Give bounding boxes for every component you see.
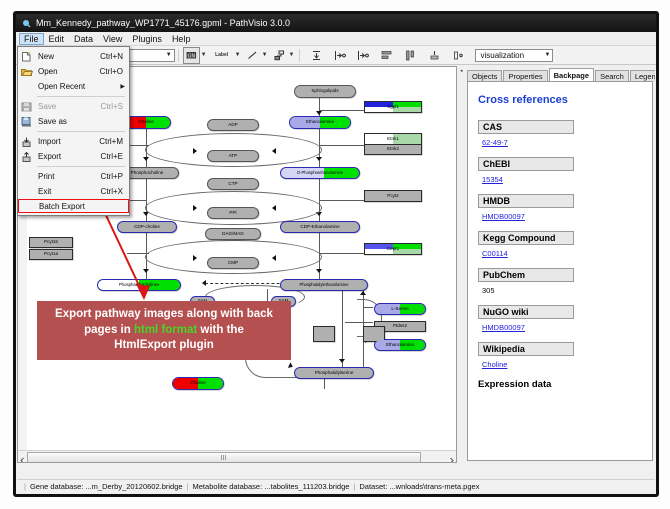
node-dag-mag[interactable]: DAG/MAG: [205, 228, 261, 240]
xref-value-wikipedia: Choline: [482, 360, 648, 369]
hscroll-thumb[interactable]: [27, 452, 421, 463]
backpage-content: Cross references CAS 62-49-7 ChEBI 15354…: [478, 88, 648, 460]
backpage-panel: Cross references CAS 62-49-7 ChEBI 15354…: [467, 81, 653, 461]
xref-value-chebi: 15354: [482, 175, 648, 184]
node-cept1[interactable]: Cept1: [364, 243, 422, 255]
node-etnk1[interactable]: Etnk1: [364, 133, 422, 144]
distribute-vertical-icon[interactable]: [378, 47, 395, 64]
xref-link-chebi[interactable]: 15354: [482, 175, 503, 184]
menu-item-exit[interactable]: Exit Ctrl+X: [18, 184, 129, 199]
tab-backpage[interactable]: Backpage: [549, 68, 594, 82]
group-icon[interactable]: [426, 47, 443, 64]
status-separator-0: |: [24, 482, 26, 491]
menu-item-save-label: Save: [38, 102, 101, 111]
callout-line-2: pages in html format with the: [55, 323, 273, 339]
node-phosphatidylcholines[interactable]: Phosphatidylcholines: [97, 279, 181, 291]
arrowhead-down-3: [316, 157, 322, 161]
menu-bar: File Edit Data View Plugins Help: [16, 32, 656, 46]
menu-item-import-label: Import: [38, 137, 99, 146]
node-cdp-choline[interactable]: CDP-choline: [117, 221, 177, 233]
xref-link-wikipedia[interactable]: Choline: [482, 360, 507, 369]
resize-handle-ne[interactable]: [222, 377, 224, 379]
menu-item-print-accel: Ctrl+P: [101, 172, 129, 181]
arrowhead-down-2: [143, 157, 149, 161]
menu-item-import-accel: Ctrl+M: [99, 137, 129, 146]
callout-line-2b: with the: [197, 324, 244, 336]
menu-help[interactable]: Help: [167, 33, 196, 45]
menu-separator-3: [22, 166, 125, 167]
xref-label-kegg: Kegg Compound: [478, 231, 574, 245]
menu-separator-2: [22, 131, 125, 132]
menu-item-open-label: Open: [38, 67, 100, 76]
node-atp[interactable]: ATP: [207, 150, 259, 162]
menu-item-new-accel: Ctrl+N: [100, 52, 129, 61]
node-ctp[interactable]: CTP: [207, 178, 259, 190]
new-file-icon: [21, 52, 33, 62]
xref-link-hmdb[interactable]: HMDB00097: [482, 212, 525, 221]
menu-item-export-accel: Ctrl+E: [101, 152, 129, 161]
arrowhead-down-7: [316, 269, 322, 273]
distribute-horizontal-icon[interactable]: [402, 47, 419, 64]
svg-text:GN: GN: [187, 53, 195, 59]
chevron-down-icon-2: ▼: [545, 52, 551, 58]
menu-item-save-as-label: Save as: [38, 117, 123, 126]
data-node-dropdown-icon[interactable]: ▼: [201, 52, 207, 58]
edge-to-etnk: [319, 145, 367, 146]
menu-item-save-as[interactable]: Save as: [18, 114, 129, 129]
node-choline-selected[interactable]: Choline: [172, 377, 224, 390]
menu-item-open-recent[interactable]: Open Recent ▶: [18, 79, 129, 94]
xref-label-pubchem: PubChem: [478, 268, 574, 282]
node-ppi[interactable]: PPi: [207, 207, 259, 219]
arrowhead-left-3: [272, 255, 276, 261]
cross-references-heading: Cross references: [478, 94, 648, 106]
arrowhead-right-3: [193, 255, 197, 261]
edge-to-sgpl1: [319, 110, 367, 111]
node-pcyt1b[interactable]: Pcyt1b: [29, 237, 73, 248]
node-pcyt1a[interactable]: Pcyt1a: [29, 249, 73, 260]
menu-view[interactable]: View: [98, 33, 127, 45]
visualization-value: visualization: [480, 51, 524, 60]
node-l-serine[interactable]: L-Serine: [374, 303, 426, 315]
menu-plugins[interactable]: Plugins: [127, 33, 167, 45]
edge-left-2: [127, 253, 149, 254]
node-adp[interactable]: ADP: [207, 119, 259, 131]
menu-item-export-label: Export: [38, 152, 101, 161]
window-title: Mm_Kennedy_pathway_WP1771_45176.gpml - P…: [36, 18, 290, 28]
side-panel-tabs: Objects Properties Backpage Search Legen…: [467, 68, 655, 82]
scroll-right-button[interactable]: [447, 452, 456, 461]
node-o-phosphoethanolamine[interactable]: O-Phosphoethanolamine: [280, 167, 360, 179]
label-tool-icon[interactable]: Label: [210, 47, 234, 64]
menu-item-open[interactable]: Open Ctrl+O: [18, 64, 129, 79]
menu-item-print-label: Print: [38, 172, 101, 181]
menu-item-batch-export-label: Batch Export: [39, 202, 128, 211]
save-disk-icon: [21, 102, 33, 112]
callout-line-2a: pages in: [84, 324, 134, 336]
side-panel: ◂ Objects Properties Backpage Search Leg…: [459, 66, 655, 463]
xref-value-nugo: HMDB00097: [482, 323, 648, 332]
line-tool-icon[interactable]: [244, 47, 261, 64]
resize-handle-sw[interactable]: [172, 388, 174, 390]
align-left-icon-2[interactable]: [354, 47, 371, 64]
screenshot-root: Mm_Kennedy_pathway_WP1771_45176.gpml - P…: [0, 0, 670, 509]
title-bar: Mm_Kennedy_pathway_WP1771_45176.gpml - P…: [16, 14, 656, 32]
toolbar-separator-2: [178, 49, 179, 62]
menu-data[interactable]: Data: [69, 33, 98, 45]
status-gene-database: Gene database: ...m_Derby_20120602.bridg…: [30, 482, 183, 491]
chevron-right-icon: ▶: [120, 83, 125, 90]
label-dropdown-icon[interactable]: ▼: [235, 52, 241, 58]
interaction-tool-icon[interactable]: [271, 47, 288, 64]
pathvisio-app-icon: [22, 19, 31, 28]
callout-highlight: html format: [134, 324, 197, 336]
node-sgpl1[interactable]: Sgpl1: [364, 101, 422, 113]
callout-line-1: Export pathway images along with back: [55, 307, 273, 323]
menu-item-exit-label: Exit: [38, 187, 101, 196]
node-phosphatidylethanolamine[interactable]: Phosphatidylethanolamine: [280, 279, 368, 291]
menu-item-batch-export[interactable]: Batch Export: [18, 199, 129, 213]
menu-item-save-accel: Ctrl+S: [101, 102, 129, 111]
menu-separator-1: [22, 96, 125, 97]
xref-value-kegg: C00114: [482, 249, 648, 258]
xref-link-kegg[interactable]: C00114: [482, 249, 508, 258]
node-phosphatidylserine[interactable]: Phosphatidylserine: [294, 367, 374, 379]
arrowhead-left-2: [272, 205, 276, 211]
pathvisio-window: Mm_Kennedy_pathway_WP1771_45176.gpml - P…: [13, 11, 659, 497]
xref-label-hmdb: HMDB: [478, 194, 574, 208]
export-icon: [21, 152, 33, 162]
callout-line-3: HtmlExport plugin: [55, 338, 273, 354]
node-ethanolamine-right[interactable]: Ethanolamine: [374, 339, 426, 351]
status-separator-2: |: [353, 482, 355, 491]
save-as-icon: [21, 117, 33, 127]
expression-data-heading: Expression data: [478, 379, 648, 390]
canvas-hscrollbar[interactable]: [18, 450, 456, 462]
edge-to-ptdss2: [345, 322, 373, 323]
file-menu-popup[interactable]: New Ctrl+N Open Ctrl+O Open Recent ▶ Sav…: [17, 46, 130, 216]
status-bar: | Gene database: ...m_Derby_20120602.bri…: [17, 479, 655, 493]
import-icon: [21, 137, 33, 147]
visualization-combobox[interactable]: visualization ▼: [475, 49, 553, 62]
edge-ptdeth-ptdserine: [342, 291, 343, 369]
arrowhead-left-1: [272, 148, 276, 154]
menu-item-save: Save Ctrl+S: [18, 99, 129, 114]
edge-to-cept1: [319, 253, 367, 254]
node-sphingolipids[interactable]: Sphingolipids: [294, 85, 356, 98]
node-etnk2[interactable]: Etnk2: [364, 144, 422, 155]
menu-item-open-recent-label: Open Recent: [38, 82, 129, 91]
arrowhead-down: [316, 111, 322, 115]
menu-item-import[interactable]: Import Ctrl+M: [18, 134, 129, 149]
menu-file[interactable]: File: [19, 33, 44, 45]
xref-link-cas[interactable]: 62-49-7: [482, 138, 508, 147]
data-node-icon[interactable]: GN: [183, 47, 200, 64]
menu-item-export[interactable]: Export Ctrl+E: [18, 149, 129, 164]
xref-value-cas: 62-49-7: [482, 138, 648, 147]
edge-down-ptdserine: [324, 379, 325, 389]
align-left-icon[interactable]: [331, 47, 348, 64]
scroll-left-button[interactable]: [18, 452, 27, 461]
node-cdp-ethanolamine[interactable]: CDP-Ethanolamine: [280, 221, 360, 233]
arrowhead-down-8: [339, 359, 345, 363]
status-dataset: Dataset: ...wnloads\trans-meta.pgex: [359, 482, 479, 491]
arrowhead-down-6: [143, 269, 149, 273]
node-gene-block-left[interactable]: [313, 326, 335, 342]
menu-item-new[interactable]: New Ctrl+N: [18, 49, 129, 64]
xref-value-pubchem: 305: [482, 286, 648, 295]
status-metabolite-database: Metabolite database: ...tabolites_111203…: [193, 482, 350, 491]
node-ethanolamine-top[interactable]: Ethanolamine: [289, 116, 351, 129]
edge-to-pcyt2: [319, 200, 367, 201]
toolbar-separator-3: [299, 49, 300, 62]
line-dropdown-icon[interactable]: ▼: [262, 52, 268, 58]
node-pcyt2[interactable]: Pcyt2: [364, 190, 422, 202]
arrowhead-left-4: [202, 280, 206, 286]
menu-item-print[interactable]: Print Ctrl+P: [18, 169, 129, 184]
align-top-icon[interactable]: [308, 47, 325, 64]
menu-edit[interactable]: Edit: [44, 33, 70, 45]
arrowhead-right-2: [193, 205, 197, 211]
xref-label-wikipedia: Wikipedia: [478, 342, 574, 356]
stack-icon[interactable]: [450, 47, 467, 64]
xref-label-chebi: ChEBI: [478, 157, 574, 171]
interaction-dropdown-icon[interactable]: ▼: [289, 52, 295, 58]
panel-collapse-gutter[interactable]: ◂: [459, 66, 466, 463]
annotation-callout: Export pathway images along with back pa…: [37, 301, 291, 360]
arrowhead-up-1: [360, 291, 366, 295]
status-separator-1: |: [187, 482, 189, 491]
xref-link-nugo[interactable]: HMDB00097: [482, 323, 525, 332]
arrowhead-right-1: [193, 148, 197, 154]
menu-item-open-accel: Ctrl+O: [100, 67, 129, 76]
xref-label-nugo: NuGO wiki: [478, 305, 574, 319]
xref-label-cas: CAS: [478, 120, 574, 134]
resize-handle-se[interactable]: [222, 388, 224, 390]
node-cmp[interactable]: CMP: [207, 257, 259, 269]
xref-value-hmdb: HMDB00097: [482, 212, 648, 221]
menu-item-exit-accel: Ctrl+X: [101, 187, 129, 196]
open-folder-icon: [21, 67, 33, 77]
chevron-down-icon: ▼: [166, 52, 172, 58]
menu-item-new-label: New: [38, 52, 100, 61]
